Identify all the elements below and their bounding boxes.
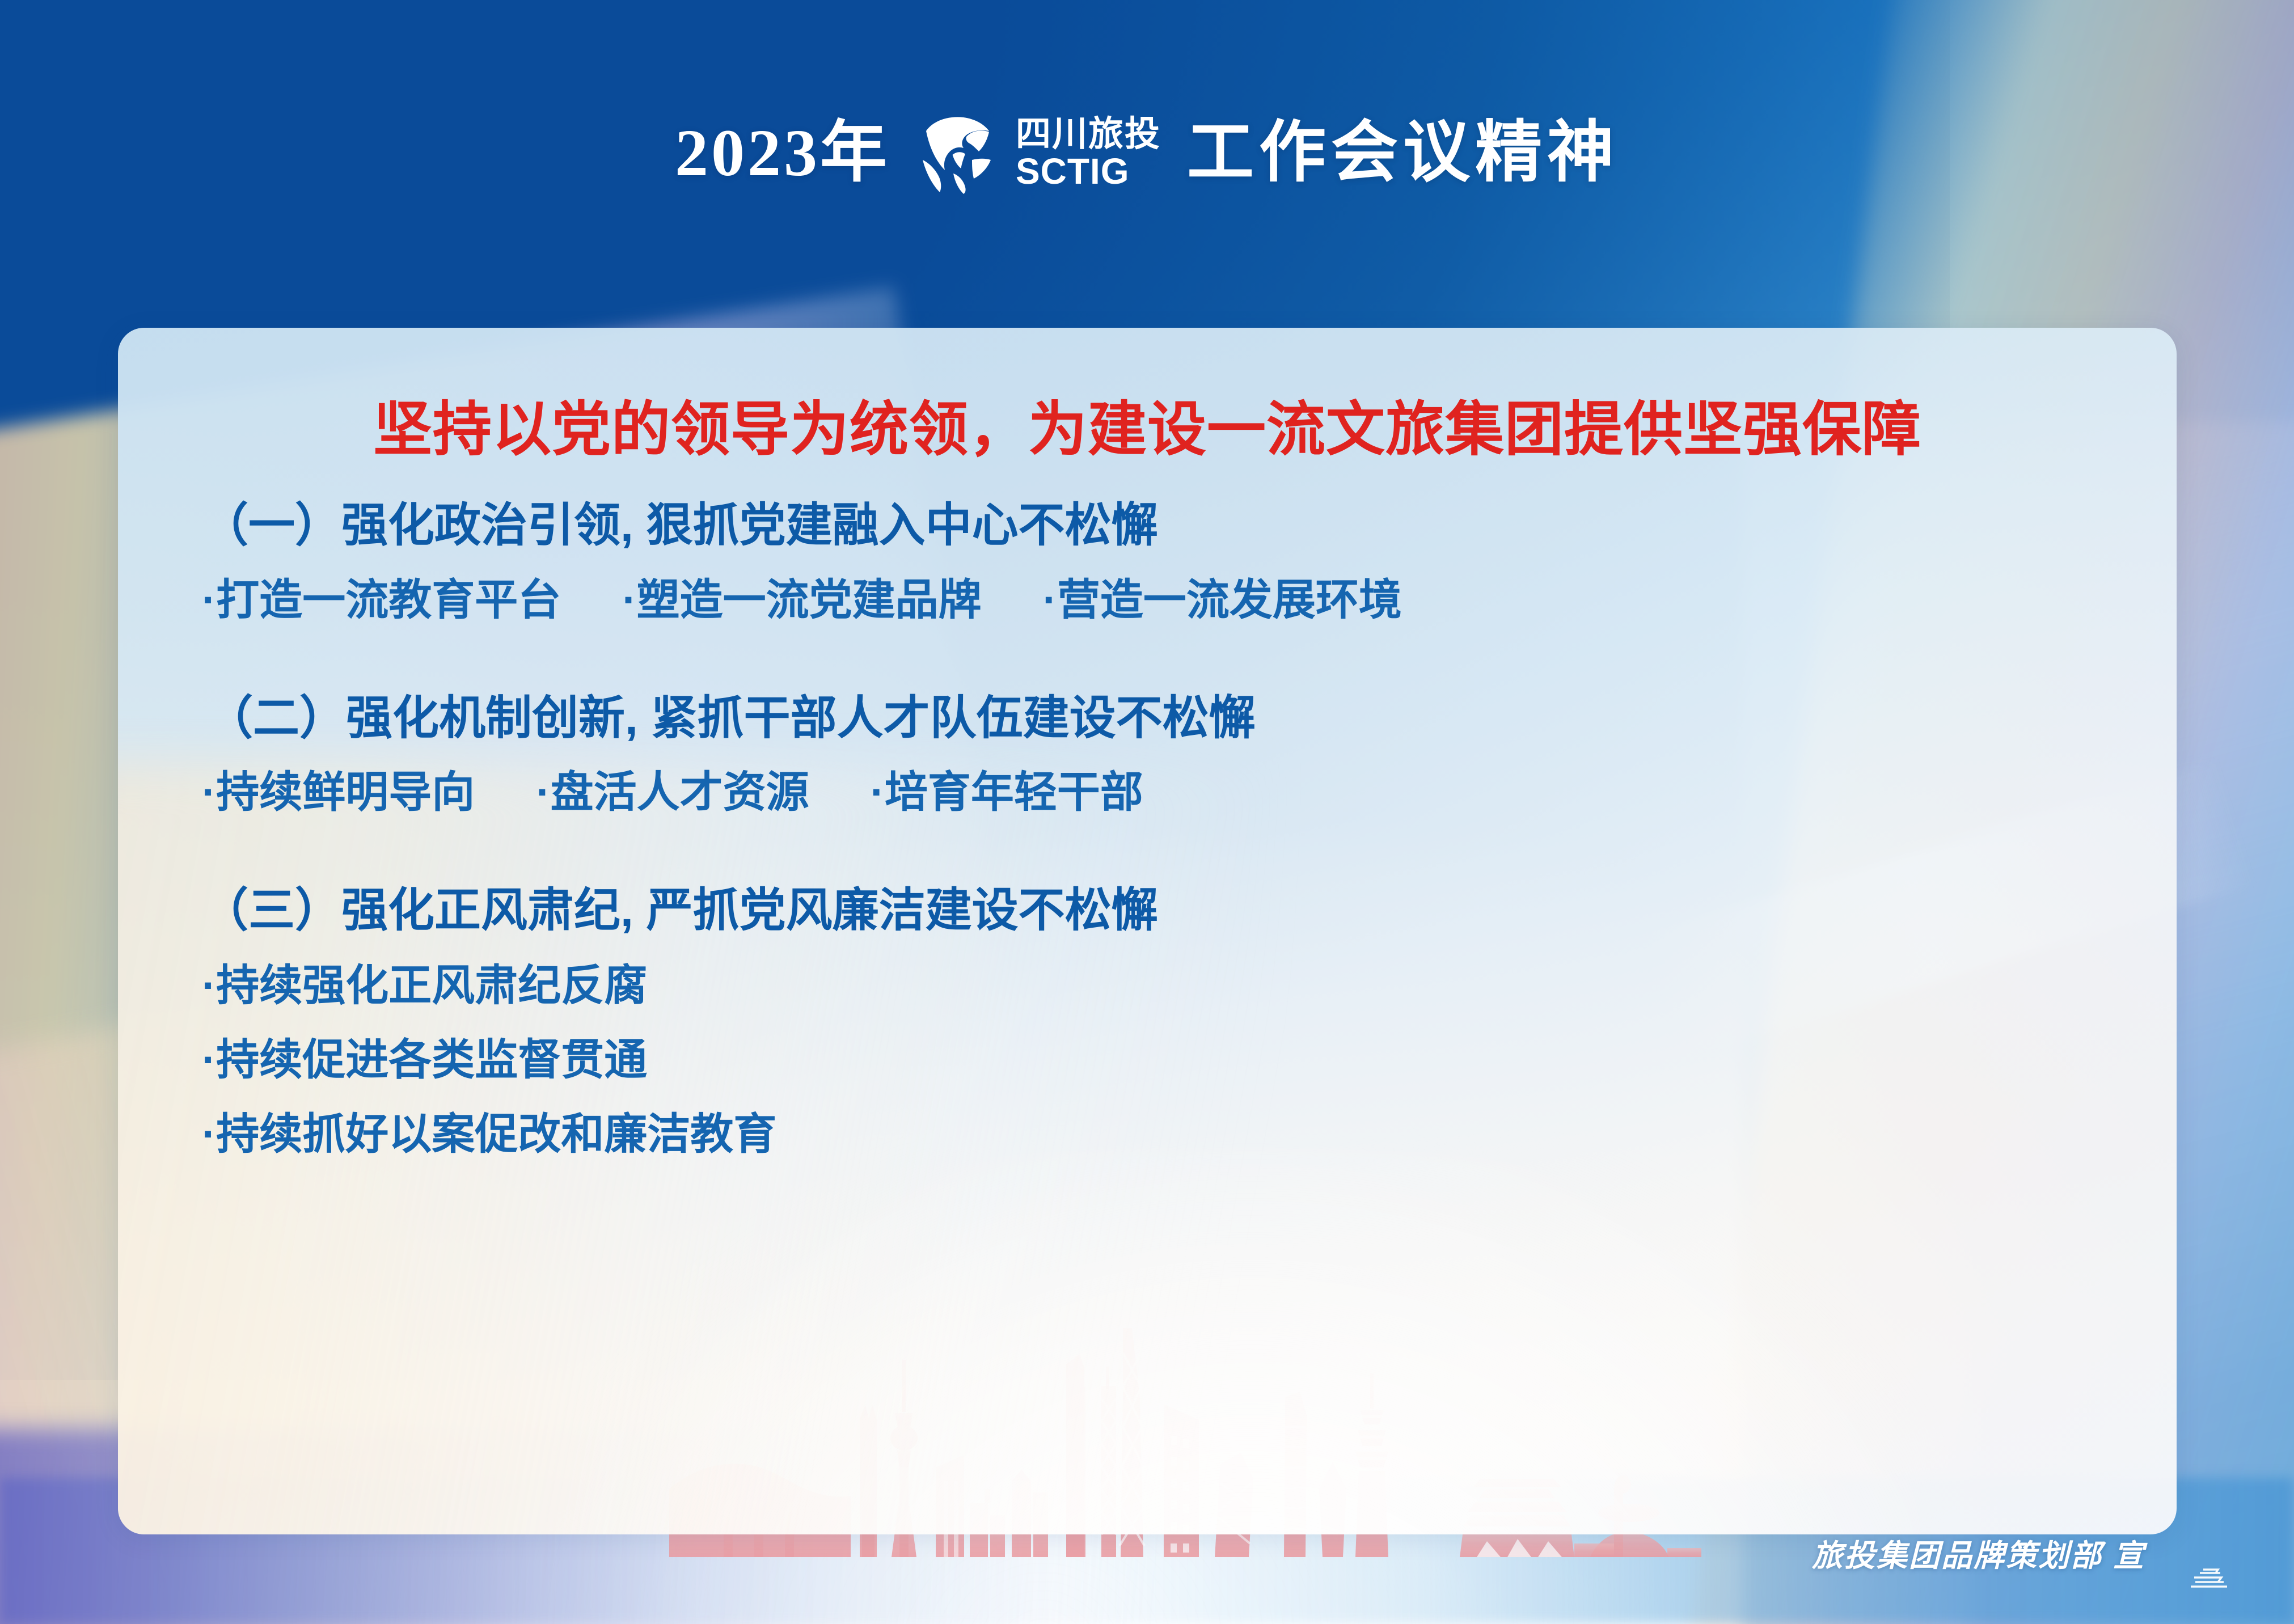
list-item: ·打造一流教育平台 bbox=[202, 573, 561, 627]
card-headline: 坚持以党的领导为统领，为建设一流文旅集团提供坚强保障 bbox=[202, 397, 2093, 463]
logo-chinese-name: 四川旅投 bbox=[1016, 117, 1161, 152]
list-item: ·持续促进各类监督贯通 bbox=[202, 1033, 2093, 1088]
content-card: 坚持以党的领导为统领，为建设一流文旅集团提供坚强保障 （一）强化政治引领, 狠抓… bbox=[118, 328, 2177, 1534]
list-item: ·培育年轻干部 bbox=[871, 766, 1143, 819]
section-three: （三）强化正风肃纪, 严抓党风廉洁建设不松懈 ·持续强化正风肃纪反腐 ·持续促进… bbox=[202, 883, 2093, 1162]
company-logo: 四川旅投 SCTIG bbox=[916, 111, 1161, 196]
logo-english-name: SCTIG bbox=[1016, 153, 1130, 189]
list-item: ·持续强化正风肃纪反腐 bbox=[202, 958, 2093, 1013]
list-item: ·持续抓好以案促改和廉洁教育 bbox=[202, 1107, 2093, 1162]
poster-header: 2023年 四川旅投 SCTIG 工作会议精 bbox=[0, 91, 2294, 215]
content-card-inner: 坚持以党的领导为统领，为建设一流文旅集团提供坚强保障 （一）强化政治引领, 狠抓… bbox=[118, 328, 2177, 1162]
logo-wordmark: 四川旅投 SCTIG bbox=[1016, 117, 1161, 189]
footer-credit: 旅投集团品牌策划部 宣 bbox=[1812, 1530, 2145, 1575]
list-item: ·营造一流发展环境 bbox=[1043, 573, 1402, 627]
poster-canvas: 2023年 四川旅投 SCTIG 工作会议精 bbox=[0, 0, 2294, 1624]
header-subject: 工作会议精神 bbox=[1187, 120, 1619, 187]
section-one: （一）强化政治引领, 狠抓党建融入中心不松懈 ·打造一流教育平台 ·塑造一流党建… bbox=[202, 498, 2093, 627]
publisher-mark-icon bbox=[2183, 1564, 2232, 1591]
section-one-bullets: ·打造一流教育平台 ·塑造一流党建品牌 ·营造一流发展环境 bbox=[202, 573, 2093, 627]
sctig-globe-logo-icon bbox=[916, 111, 1001, 196]
list-item: ·持续鲜明导向 bbox=[202, 766, 475, 819]
section-two-bullets: ·持续鲜明导向 ·盘活人才资源 ·培育年轻干部 bbox=[202, 766, 2093, 819]
section-one-heading: （一）强化政治引领, 狠抓党建融入中心不松懈 bbox=[202, 498, 2093, 553]
section-three-heading: （三）强化正风肃纪, 严抓党风廉洁建设不松懈 bbox=[202, 883, 2093, 938]
header-year: 2023年 bbox=[675, 120, 890, 187]
section-three-bullets: ·持续强化正风肃纪反腐 ·持续促进各类监督贯通 ·持续抓好以案促改和廉洁教育 bbox=[202, 958, 2093, 1162]
section-two: （二）强化机制创新, 紧抓干部人才队伍建设不松懈 ·持续鲜明导向 ·盘活人才资源… bbox=[202, 691, 2093, 819]
list-item: ·塑造一流党建品牌 bbox=[622, 573, 981, 627]
section-two-heading: （二）强化机制创新, 紧抓干部人才队伍建设不松懈 bbox=[202, 691, 2093, 746]
list-item: ·盘活人才资源 bbox=[536, 766, 809, 819]
